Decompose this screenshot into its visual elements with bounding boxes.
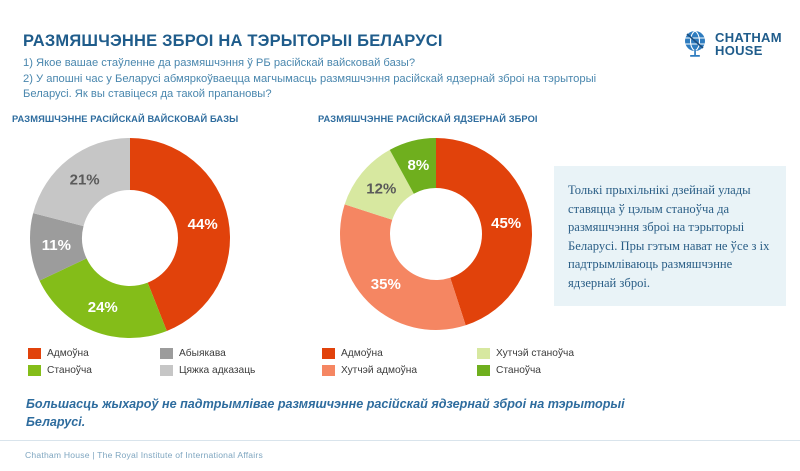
legend-item: Цяжка адказаць — [160, 365, 255, 376]
insight-callout-box: Толькі прыхільнікі дзейнай улады ставяцц… — [554, 166, 786, 306]
legend-swatch-icon — [322, 365, 335, 376]
legend-swatch-icon — [160, 365, 173, 376]
footer-credit: Chatham House | The Royal Institute of I… — [25, 450, 263, 460]
pie-slice-label: 44% — [188, 216, 218, 233]
legend-item: Адмоўна — [28, 348, 138, 359]
pie-slice-label: 24% — [88, 299, 118, 316]
legend-swatch-icon — [160, 348, 173, 359]
legend-label: Станоўча — [496, 365, 541, 376]
footer-divider — [0, 440, 800, 441]
question-1: 1) Якое вашае стаўленне да размяшчэння ў… — [23, 56, 643, 72]
legend-label: Адмоўна — [341, 348, 383, 359]
legend-item: Станоўча — [477, 365, 574, 376]
pie-slice-label: 11% — [42, 237, 71, 254]
logo-line-2: HOUSE — [715, 43, 763, 58]
globe-icon — [683, 30, 709, 58]
legend-item: Станоўча — [28, 365, 138, 376]
legend-label: Станоўча — [47, 365, 92, 376]
conclusion-text: Большасць жыхароў не падтрымлівае размяш… — [26, 395, 676, 431]
legend-item: Абыякава — [160, 348, 255, 359]
legend-label: Цяжка адказаць — [179, 365, 255, 376]
legend-swatch-icon — [477, 365, 490, 376]
legend-swatch-icon — [477, 348, 490, 359]
question-list: 1) Якое вашае стаўленне да размяшчэння ў… — [23, 56, 643, 103]
pie-slice-label: 35% — [371, 276, 401, 293]
chart-2-legend: АдмоўнаХутчэй станоўчаХутчэй адмоўнаСтан… — [322, 348, 574, 376]
chart-2-title: РАЗМЯШЧЭННЕ РАСІЙСКАЙ ЯДЗЕРНАЙ ЗБРОІ — [318, 114, 538, 124]
chart-2-donut: 45%35%12%8% — [340, 138, 532, 330]
pie-slice-label: 45% — [491, 215, 521, 232]
insight-text: Толькі прыхільнікі дзейнай улады ставяцц… — [568, 181, 772, 293]
question-2: 2) У апошні час у Беларусі абмяркоўваецц… — [23, 72, 643, 103]
legend-item: Хутчэй адмоўна — [322, 365, 455, 376]
chatham-house-logo: CHATHAM HOUSE — [683, 30, 782, 58]
legend-swatch-icon — [28, 365, 41, 376]
logo-wordmark: CHATHAM HOUSE — [715, 31, 782, 58]
chart-1-legend: АдмоўнаАбыякаваСтаноўчаЦяжка адказаць — [28, 348, 255, 376]
legend-label: Хутчэй адмоўна — [341, 365, 417, 376]
legend-item: Адмоўна — [322, 348, 455, 359]
legend-item: Хутчэй станоўча — [477, 348, 574, 359]
legend-label: Хутчэй станоўча — [496, 348, 574, 359]
chart-1-title: РАЗМЯШЧЭННЕ РАСІЙСКАЙ ВАЙСКОВАЙ БАЗЫ — [12, 114, 238, 124]
legend-label: Адмоўна — [47, 348, 89, 359]
pie-slice — [340, 204, 466, 330]
pie-slice-label: 21% — [70, 172, 100, 189]
legend-swatch-icon — [322, 348, 335, 359]
infographic-slide: РАЗМЯШЧЭННЕ ЗБРОІ НА ТЭРЫТОРЫІ БЕЛАРУСІ … — [0, 0, 800, 471]
page-title: РАЗМЯШЧЭННЕ ЗБРОІ НА ТЭРЫТОРЫІ БЕЛАРУСІ — [23, 32, 443, 51]
pie-slice-label: 8% — [407, 157, 429, 174]
pie-slice-label: 12% — [366, 181, 396, 198]
chart-1-donut: 44%24%11%21% — [30, 138, 230, 338]
legend-swatch-icon — [28, 348, 41, 359]
legend-label: Абыякава — [179, 348, 226, 359]
